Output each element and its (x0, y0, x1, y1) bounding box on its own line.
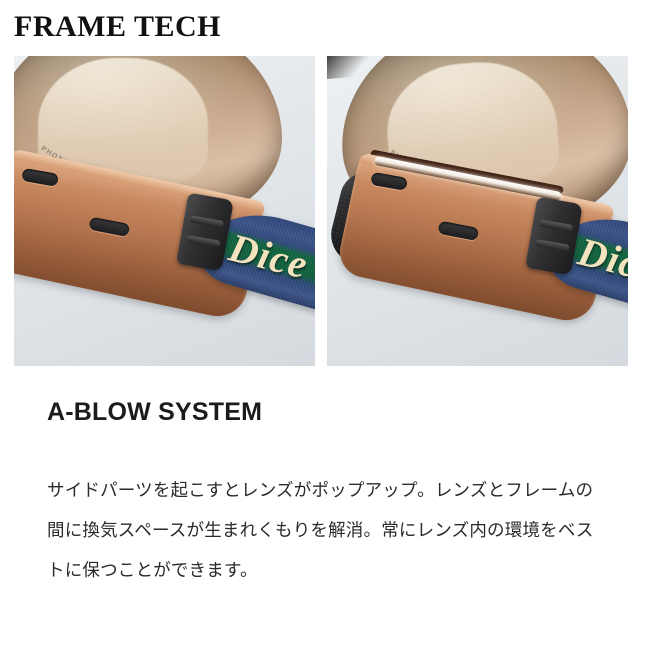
frame-vent-slot (437, 221, 479, 241)
feature-heading: A-BLOW SYSTEM (47, 398, 262, 427)
frame-vent-slot (370, 172, 408, 191)
goggle-assembly: PHOTOCHROMIC ULTRA SERIES Dice (14, 56, 315, 366)
goggle-popped-photo: PHOTOCHROMIC ULTRA SERIES Dice (327, 56, 628, 366)
section-title: FRAME TECH (14, 8, 221, 46)
feature-description: サイドパーツを起こすとレンズがポップアップ。レンズとフレームの間に換気スペースが… (47, 470, 609, 590)
goggle-assembly: PHOTOCHROMIC ULTRA SERIES Dice (363, 60, 628, 366)
lens-corner-shadow (327, 56, 433, 80)
product-photo-gallery: PHOTOCHROMIC ULTRA SERIES Dice (14, 56, 636, 366)
frame-vent-slot (21, 168, 59, 187)
goggle-closed-photo: PHOTOCHROMIC ULTRA SERIES Dice (14, 56, 315, 366)
frame-vent-slot (88, 217, 130, 237)
lens-corner-shadow (14, 56, 88, 64)
